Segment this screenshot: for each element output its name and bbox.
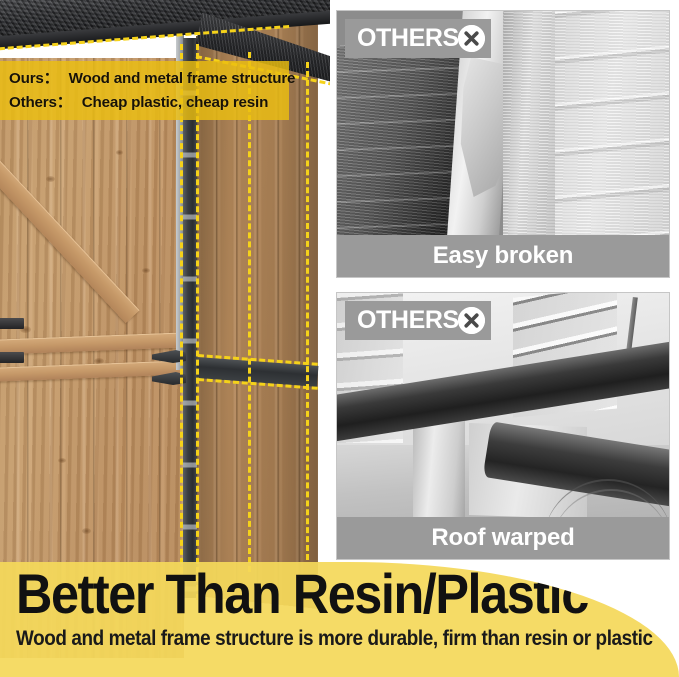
wood-knot xyxy=(58,458,66,463)
wood-knot xyxy=(116,150,123,155)
bottom-yellow-banner: Better Than Resin/Plastic Wood and metal… xyxy=(0,562,679,677)
wood-shed-product-photo: Ours：Wood and metal frame structure Othe… xyxy=(0,0,330,660)
wood-knot xyxy=(142,268,150,273)
banner-subtitle: Wood and metal frame structure is more d… xyxy=(16,628,653,649)
others-badge-label: OTHERS xyxy=(357,308,459,333)
panel-caption-text: Easy broken xyxy=(433,242,574,270)
corner-post-rivets xyxy=(183,38,197,598)
x-mark-icon xyxy=(458,25,485,52)
wood-knot xyxy=(46,176,55,182)
others-badge-bottom: OTHERS xyxy=(345,301,491,340)
door-hinge xyxy=(0,352,24,363)
callout-others-key: Others： xyxy=(9,95,72,110)
callout-row-ours: Ours：Wood and metal frame structure xyxy=(9,71,289,86)
ours-vs-others-callout: Ours：Wood and metal frame structure Othe… xyxy=(0,61,289,120)
others-badge-label: OTHERS xyxy=(357,26,459,51)
callout-row-others: Others：Cheap plastic, cheap resin xyxy=(9,95,289,110)
shed-metal-corner-post xyxy=(183,38,197,598)
callout-ours-key: Ours： xyxy=(9,71,59,86)
photo-corner-column xyxy=(503,11,563,235)
photo-plastic-siding xyxy=(555,11,669,235)
callout-ours-value: Wood and metal frame structure xyxy=(69,71,296,86)
door-hinge xyxy=(0,318,24,329)
callout-others-value: Cheap plastic, cheap resin xyxy=(82,95,268,110)
comparison-panel-roof-warped: OTHERS Roof warped xyxy=(336,292,670,560)
wood-knot xyxy=(82,528,91,534)
others-badge-top: OTHERS xyxy=(345,19,491,58)
panel-caption-roof-warped: Roof warped xyxy=(337,517,669,559)
comparison-panel-easy-broken: OTHERS Easy broken xyxy=(336,10,670,278)
x-mark-icon xyxy=(458,307,485,334)
banner-headline: Better Than Resin/Plastic xyxy=(16,566,588,622)
infographic-root: Ours：Wood and metal frame structure Othe… xyxy=(0,0,679,677)
panel-caption-text: Roof warped xyxy=(431,524,574,552)
panel-caption-easy-broken: Easy broken xyxy=(337,235,669,277)
